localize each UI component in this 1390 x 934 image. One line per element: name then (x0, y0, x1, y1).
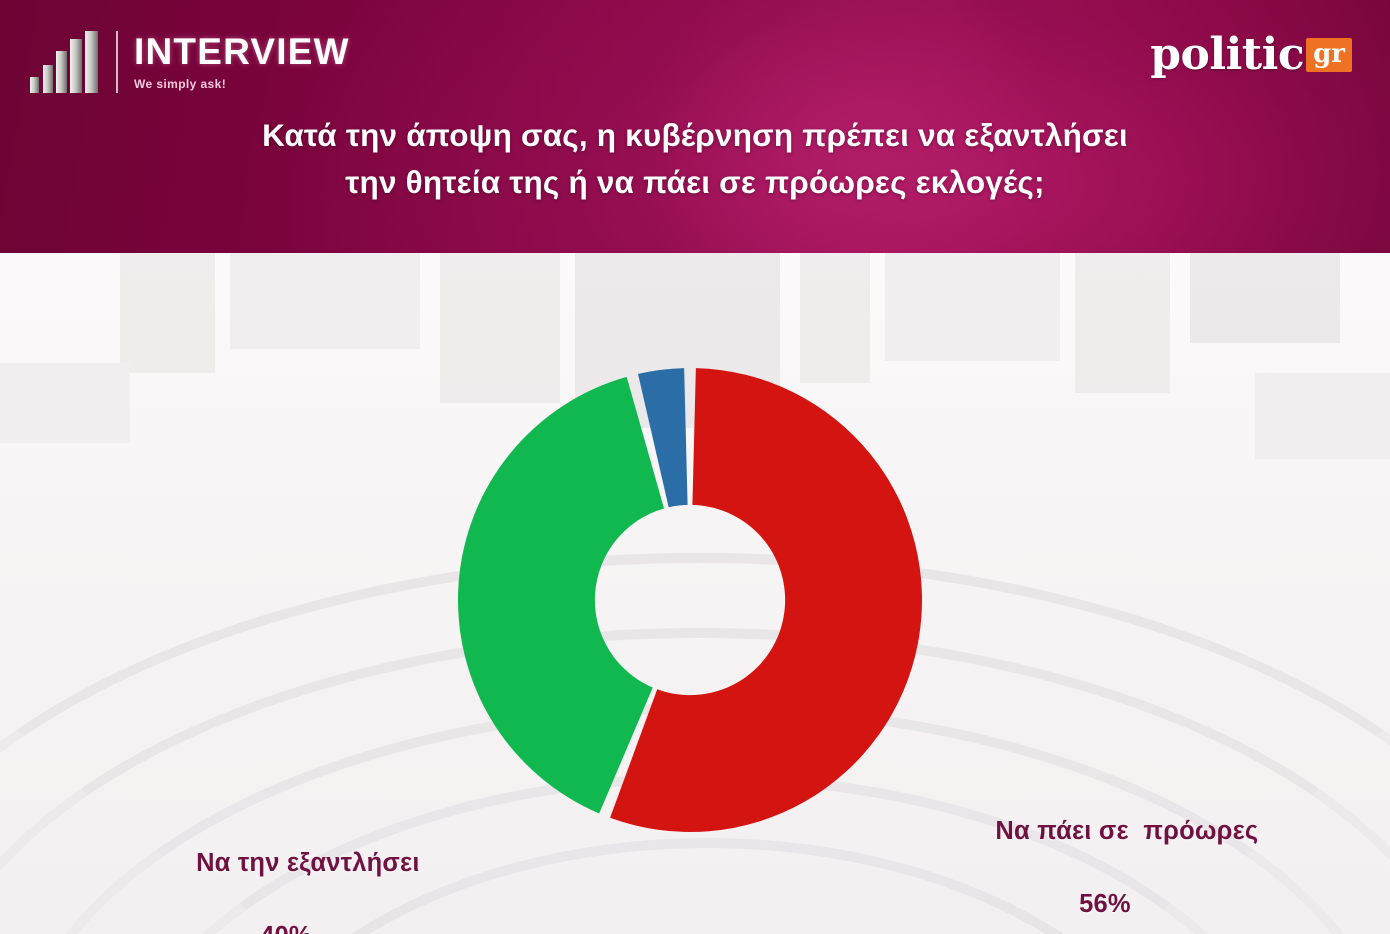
politic-logo: politic gr (1150, 26, 1352, 84)
slice-label-exhaust-value: 40% (96, 918, 476, 934)
interview-wordmark: INTERVIEW (134, 33, 350, 70)
slice-label-exhaust: Να την εξαντλήσει 40% (96, 809, 476, 934)
ascending-bars-icon (30, 31, 102, 93)
donut-slices (458, 368, 922, 832)
donut-chart (455, 365, 925, 835)
header-banner: INTERVIEW We simply ask! politic gr Κατά… (0, 0, 1390, 253)
slice-label-elections-value: 56% (905, 886, 1305, 922)
slice-label-elections: Να πάει σε πρόωρες 56% (905, 777, 1305, 934)
politic-gr-badge: gr (1306, 38, 1352, 72)
slice-label-elections-text: Να πάει σε πρόωρες (995, 817, 1258, 845)
question-line-1: Κατά την άποψη σας, η κυβέρνηση πρέπει ν… (0, 112, 1390, 159)
question-line-2: την θητεία της ή να πάει σε πρόωρες εκλο… (0, 159, 1390, 206)
poll-question: Κατά την άποψη σας, η κυβέρνηση πρέπει ν… (0, 112, 1390, 205)
interview-logo: INTERVIEW We simply ask! (30, 26, 350, 98)
slice-label-exhaust-text: Να την εξαντλήσει (196, 849, 420, 877)
logo-divider (116, 31, 118, 93)
interview-tagline: We simply ask! (134, 77, 350, 91)
politic-wordmark: politic (1150, 33, 1304, 77)
donut-chart-svg (455, 365, 925, 835)
poll-graphic: INTERVIEW We simply ask! politic gr Κατά… (0, 0, 1390, 934)
donut-slice-1[interactable] (458, 377, 664, 814)
